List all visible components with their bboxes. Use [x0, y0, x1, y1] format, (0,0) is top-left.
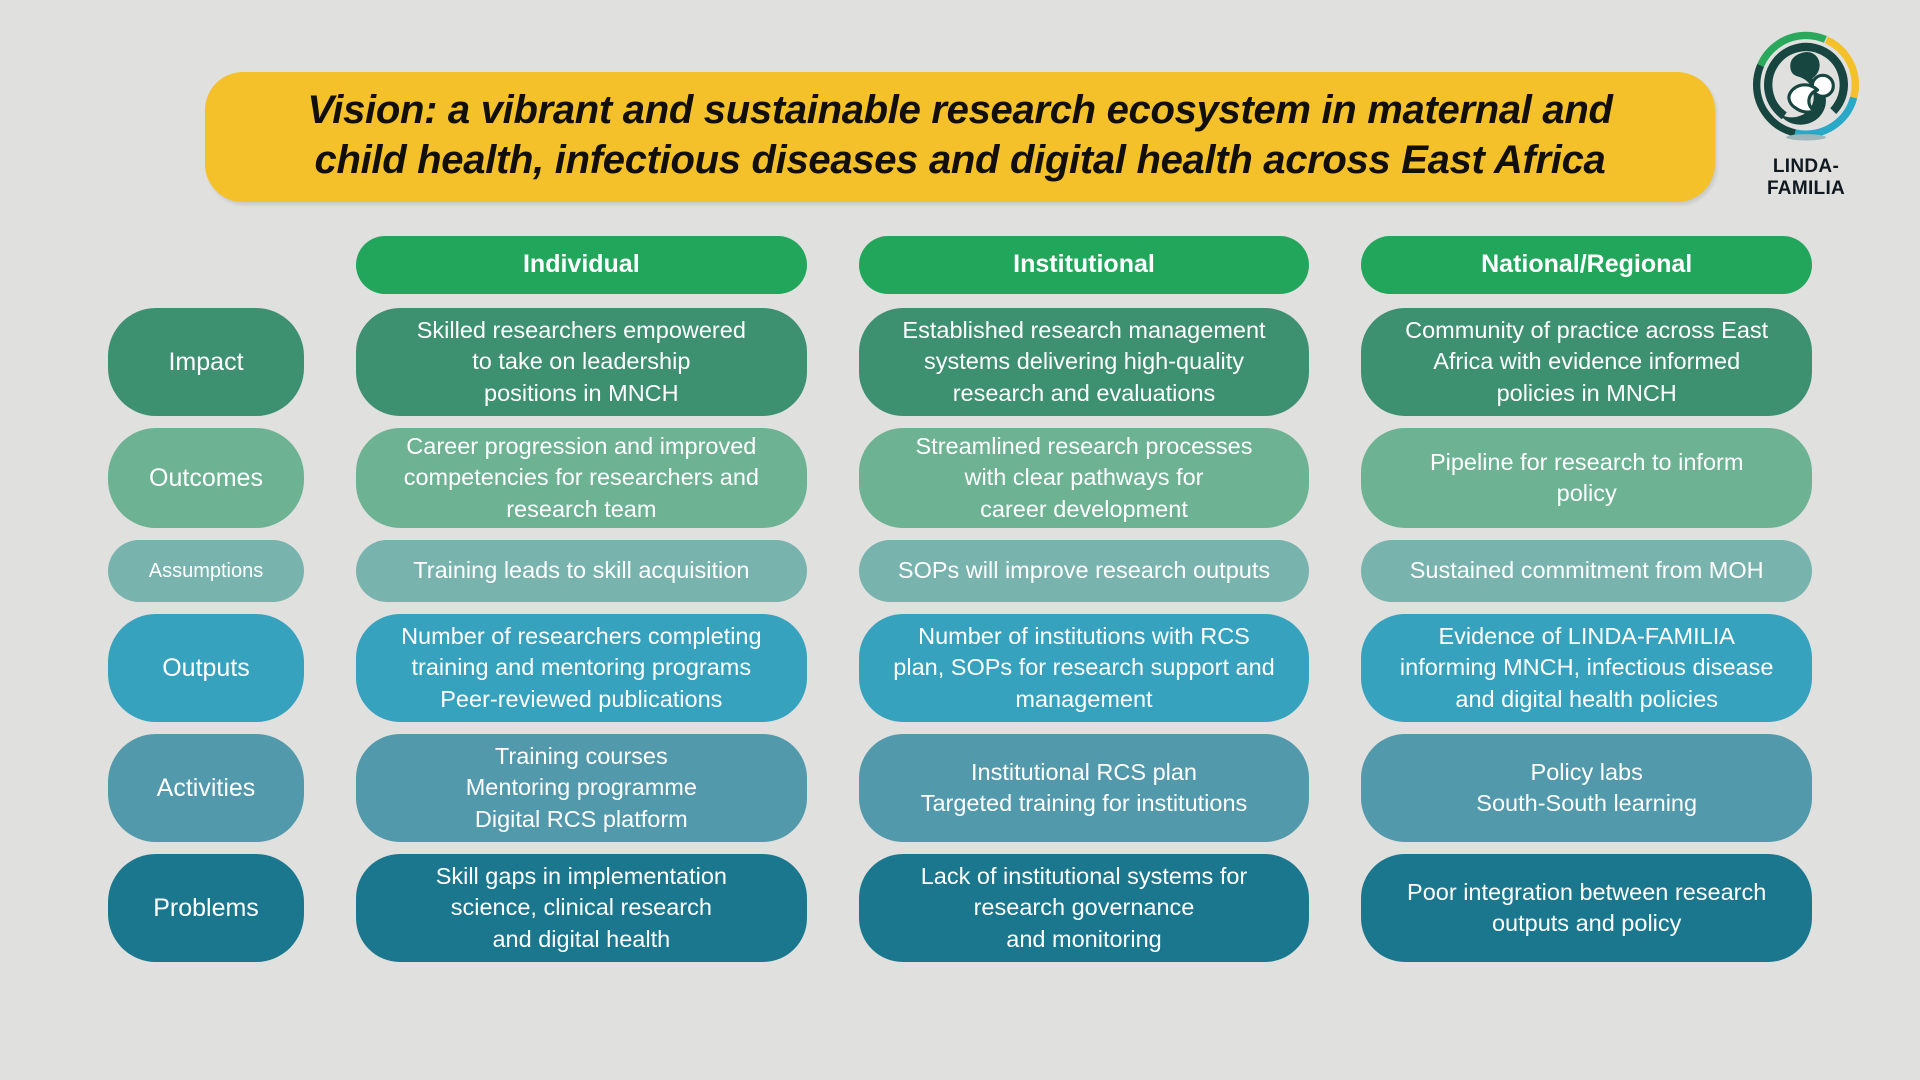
row-cells-assumptions: Training leads to skill acquisition SOPs… — [356, 540, 1920, 602]
cell-assumptions-institutional[interactable]: SOPs will improve research outputs — [859, 540, 1310, 602]
cell-problems-institutional[interactable]: Lack of institutional systems forresearc… — [859, 854, 1310, 962]
row-label-activities[interactable]: Activities — [108, 734, 304, 842]
row-problems: Problems Skill gaps in implementationsci… — [0, 854, 1920, 962]
cell-problems-individual[interactable]: Skill gaps in implementationscience, cli… — [356, 854, 807, 962]
row-label-col-activities: Activities — [108, 734, 304, 842]
cell-outcomes-national-regional[interactable]: Pipeline for research to informpolicy — [1361, 428, 1812, 528]
row-cells-problems: Skill gaps in implementationscience, cli… — [356, 854, 1920, 962]
row-label-problems[interactable]: Problems — [108, 854, 304, 962]
row-label-outputs[interactable]: Outputs — [108, 614, 304, 722]
row-label-assumptions[interactable]: Assumptions — [108, 540, 304, 602]
logic-model-grid: Individual Institutional National/Region… — [0, 236, 1920, 974]
cell-activities-national-regional[interactable]: Policy labsSouth-South learning — [1361, 734, 1812, 842]
row-outputs: Outputs Number of researchers completing… — [0, 614, 1920, 722]
row-outcomes: Outcomes Career progression and improved… — [0, 428, 1920, 528]
column-header-row: Individual Institutional National/Region… — [0, 236, 1920, 294]
cell-impact-individual[interactable]: Skilled researchers empoweredto take on … — [356, 308, 807, 416]
cell-problems-national-regional[interactable]: Poor integration between researchoutputs… — [1361, 854, 1812, 962]
row-label-impact[interactable]: Impact — [108, 308, 304, 416]
header-corner-spacer — [108, 236, 304, 294]
row-cells-outcomes: Career progression and improvedcompetenc… — [356, 428, 1920, 528]
row-cells-impact: Skilled researchers empoweredto take on … — [356, 308, 1920, 416]
vision-banner: Vision: a vibrant and sustainable resear… — [205, 72, 1715, 202]
cell-activities-institutional[interactable]: Institutional RCS planTargeted training … — [859, 734, 1310, 842]
row-impact: Impact Skilled researchers empoweredto t… — [0, 308, 1920, 416]
vision-title-line2: child health, infectious diseases and di… — [315, 138, 1606, 182]
vision-title-line1: Vision: a vibrant and sustainable resear… — [307, 88, 1612, 132]
cell-impact-institutional[interactable]: Established research managementsystems d… — [859, 308, 1310, 416]
row-label-col-outputs: Outputs — [108, 614, 304, 722]
row-label-col-outcomes: Outcomes — [108, 428, 304, 528]
row-cells-activities: Training coursesMentoring programmeDigit… — [356, 734, 1920, 842]
row-label-outcomes[interactable]: Outcomes — [108, 428, 304, 528]
row-assumptions: Assumptions Training leads to skill acqu… — [0, 540, 1920, 602]
logo-block: LINDA-FAMILIA — [1738, 26, 1874, 200]
vision-banner-body: Vision: a vibrant and sustainable resear… — [205, 72, 1715, 202]
column-header-institutional[interactable]: Institutional — [859, 236, 1310, 294]
row-label-col-problems: Problems — [108, 854, 304, 962]
cell-outputs-individual[interactable]: Number of researchers completingtraining… — [356, 614, 807, 722]
column-header-national-regional[interactable]: National/Regional — [1361, 236, 1812, 294]
column-headers: Individual Institutional National/Region… — [356, 236, 1920, 294]
cell-impact-national-regional[interactable]: Community of practice across EastAfrica … — [1361, 308, 1812, 416]
cell-outcomes-individual[interactable]: Career progression and improvedcompetenc… — [356, 428, 807, 528]
cell-activities-individual[interactable]: Training coursesMentoring programmeDigit… — [356, 734, 807, 842]
cell-assumptions-national-regional[interactable]: Sustained commitment from MOH — [1361, 540, 1812, 602]
cell-outcomes-institutional[interactable]: Streamlined research processeswith clear… — [859, 428, 1310, 528]
logo-wordmark: LINDA-FAMILIA — [1738, 156, 1874, 200]
row-label-col-impact: Impact — [108, 308, 304, 416]
row-cells-outputs: Number of researchers completingtraining… — [356, 614, 1920, 722]
mother-and-child-logo-icon — [1743, 26, 1869, 152]
cell-assumptions-individual[interactable]: Training leads to skill acquisition — [356, 540, 807, 602]
vision-title: Vision: a vibrant and sustainable resear… — [307, 85, 1612, 186]
cell-outputs-national-regional[interactable]: Evidence of LINDA-FAMILIAinforming MNCH,… — [1361, 614, 1812, 722]
row-label-col-assumptions: Assumptions — [108, 540, 304, 602]
cell-outputs-institutional[interactable]: Number of institutions with RCSplan, SOP… — [859, 614, 1310, 722]
row-activities: Activities Training coursesMentoring pro… — [0, 734, 1920, 842]
column-header-individual[interactable]: Individual — [356, 236, 807, 294]
